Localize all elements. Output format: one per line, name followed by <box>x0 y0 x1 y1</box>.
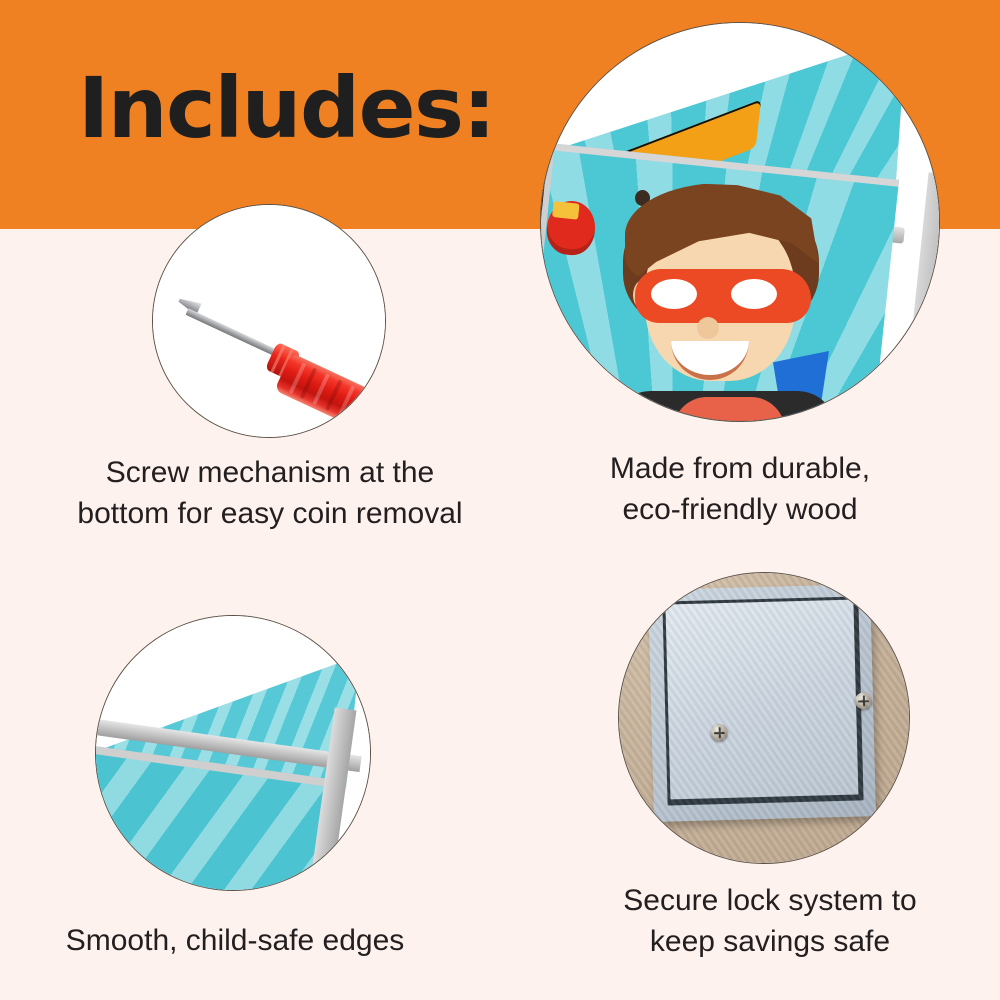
lock-plate-surface <box>665 600 858 800</box>
screw-icon-right <box>855 692 872 709</box>
screwdriver-end-cap-icon <box>383 354 386 389</box>
moneybox-side-panel <box>901 172 940 422</box>
caption-line-1: Made from durable, <box>545 448 935 489</box>
smooth-edges-image-circle: gs <box>95 615 371 891</box>
boy-eye-left <box>651 279 697 309</box>
moneybox-illustration: RAY'S SAVINGS <box>541 23 939 421</box>
caption-smooth-edges: Smooth, child-safe edges <box>20 920 450 961</box>
caption-screw-mechanism: Screw mechanism at the bottom for easy c… <box>30 452 510 535</box>
boy-superhero-mask <box>635 269 811 323</box>
boy-eye-right <box>731 279 777 309</box>
lock-plate-recess <box>662 596 863 805</box>
screwdriver-illustration <box>153 205 385 437</box>
caption-line-2: keep savings safe <box>560 921 980 962</box>
caption-line-1: Screw mechanism at the <box>30 452 510 493</box>
box-corner-illustration: gs <box>96 616 370 890</box>
caption-line-1: Smooth, child-safe edges <box>20 920 450 961</box>
caption-line-2: bottom for easy coin removal <box>30 493 510 534</box>
caption-line-1: Secure lock system to <box>560 880 980 921</box>
boy-chest-emblem <box>673 397 785 422</box>
lock-plate-frame <box>648 584 876 822</box>
screwdriver-shaft-icon <box>186 308 283 358</box>
lock-image-circle <box>618 572 910 864</box>
page-title: Includes: <box>78 66 495 150</box>
screwdriver-image-circle <box>152 204 386 438</box>
caption-durable-wood: Made from durable, eco-friendly wood <box>545 448 935 531</box>
infographic-page: Includes: Screw mechanism a <box>0 0 1000 1000</box>
boy-nose <box>697 317 719 339</box>
caption-secure-lock: Secure lock system to keep savings safe <box>560 880 980 963</box>
screwdriver-handle-icon <box>274 353 386 437</box>
lock-plate-photo <box>619 573 909 863</box>
caption-line-2: eco-friendly wood <box>545 489 935 530</box>
screw-icon-left <box>711 724 728 741</box>
superhero-boy-illustration <box>601 183 861 422</box>
moneybox-image-circle: RAY'S SAVINGS <box>540 22 940 422</box>
